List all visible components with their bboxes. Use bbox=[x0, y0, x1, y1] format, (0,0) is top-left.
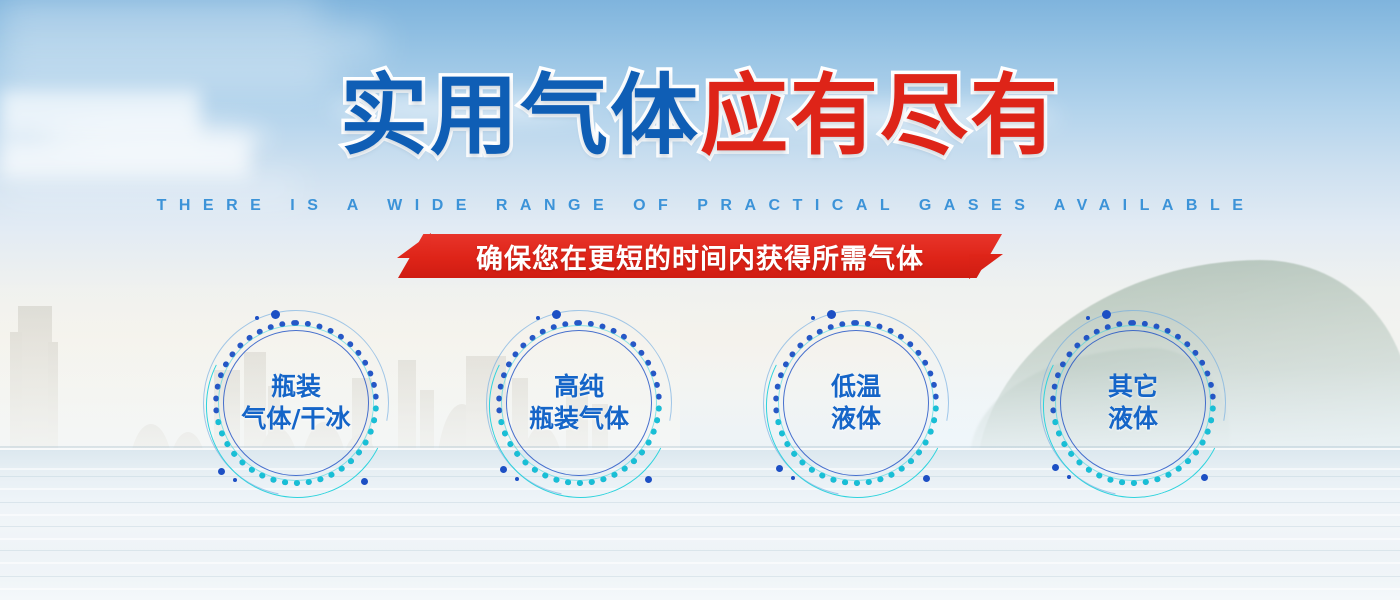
category-circle-4[interactable]: 其它 液体 bbox=[1040, 310, 1226, 496]
category-label-2: 高纯 瓶装气体 bbox=[486, 310, 672, 496]
category-label-1-line1: 瓶装 bbox=[271, 373, 321, 402]
category-label-2-line1: 高纯 bbox=[554, 373, 604, 402]
category-label-3-line1: 低温 bbox=[831, 373, 881, 402]
category-label-3-line2: 液体 bbox=[831, 405, 881, 434]
category-label-4-line1: 其它 bbox=[1108, 373, 1158, 402]
ribbon-text: 确保您在更短的时间内获得所需气体 bbox=[398, 234, 1002, 278]
tagline-ribbon: 确保您在更短的时间内获得所需气体 bbox=[398, 234, 1002, 278]
category-label-4-line2: 液体 bbox=[1108, 405, 1158, 434]
subtitle-english: THERE IS A WIDE RANGE OF PRACTICAL GASES… bbox=[0, 197, 1400, 215]
page-title: 实用气体应有尽有 bbox=[0, 72, 1400, 160]
category-circle-1[interactable]: 瓶装 气体/干冰 bbox=[203, 310, 389, 496]
category-label-3: 低温 液体 bbox=[763, 310, 949, 496]
title-red-part: 应有尽有 bbox=[700, 72, 1060, 160]
category-label-2-line2: 瓶装气体 bbox=[529, 405, 629, 434]
title-blue-part: 实用气体 bbox=[340, 72, 700, 160]
category-circle-group: 瓶装 气体/干冰 高纯 瓶装气体 bbox=[0, 310, 1400, 510]
category-label-1-line2: 气体/干冰 bbox=[241, 405, 350, 434]
category-label-4: 其它 液体 bbox=[1040, 310, 1226, 496]
category-circle-2[interactable]: 高纯 瓶装气体 bbox=[486, 310, 672, 496]
promo-banner: 实用气体应有尽有 THERE IS A WIDE RANGE OF PRACTI… bbox=[0, 0, 1400, 600]
category-circle-3[interactable]: 低温 液体 bbox=[763, 310, 949, 496]
category-label-1: 瓶装 气体/干冰 bbox=[203, 310, 389, 496]
